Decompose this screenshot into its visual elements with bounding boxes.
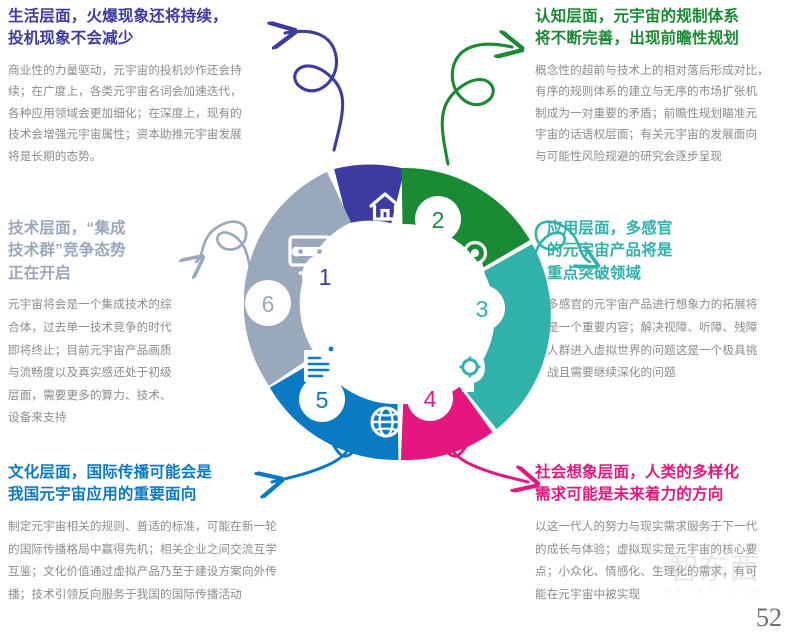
donut-number-2: 2 bbox=[432, 207, 445, 233]
donut-number-6: 6 bbox=[262, 291, 275, 317]
page-number: 52 bbox=[756, 603, 782, 633]
donut-number-4: 4 bbox=[424, 386, 437, 412]
body-app: 多感官的元宇宙产品进行想象力的拓展将 是一个重要内容；解决视障、听障、残障 人群… bbox=[547, 294, 797, 384]
body-life: 商业性的力量驱动，元宇宙的投机炒作还会持 续；在广度上，各类元宇宙名词会加速迭代… bbox=[8, 60, 280, 167]
donut-segment-3[interactable] bbox=[479, 258, 523, 408]
process-donut-chart: 1 2 3 4 5 6 bbox=[244, 158, 556, 470]
svg-text:z h i d x . c o m: z h i d x . c o m bbox=[665, 588, 763, 595]
body-cognition: 概念性的超前与技术上的相对落后形成对比， 有序的规则体系的建立与无序的市场扩张机… bbox=[535, 60, 797, 167]
heading-culture: 文化层面，国际传播可能会是 我国元宇宙应用的重要面向 bbox=[8, 462, 308, 507]
watermark-logo: 智东西 z h i d x . c o m bbox=[644, 549, 784, 597]
heading-cognition: 认知层面，元宇宙的规制体系 将不断完善，出现前瞻性规划 bbox=[535, 6, 797, 51]
heading-life: 生活层面，火爆现象还将持续， 投机现象不会减少 bbox=[8, 6, 280, 51]
heading-social: 社会想象层面，人类的多样化 需求可能是未来着力的方向 bbox=[535, 462, 797, 507]
heading-app: 应用层面，多感官 的元宇宙产品将是 重点突破领域 bbox=[547, 218, 797, 285]
arrow-life bbox=[285, 31, 343, 150]
infographic-canvas: 1 2 3 4 5 6 bbox=[0, 0, 800, 637]
text-block-tech: 技术层面，“集成 技术群”竞争态势 正在开启 元宇宙将会是一个集成技术的综 合体… bbox=[8, 218, 208, 430]
donut-number-1: 1 bbox=[319, 264, 332, 290]
text-block-cognition: 认知层面，元宇宙的规制体系 将不断完善，出现前瞻性规划 概念性的超前与技术上的相… bbox=[535, 6, 797, 167]
arrow-cognition bbox=[442, 44, 512, 164]
text-block-culture: 文化层面，国际传播可能会是 我国元宇宙应用的重要面向 制定元宇宙相关的规则、普适… bbox=[8, 462, 308, 606]
donut-number-5: 5 bbox=[316, 387, 329, 413]
donut-number-3: 3 bbox=[476, 296, 489, 322]
body-culture: 制定元宇宙相关的规则、普适的标准，可能在新一轮 的国际传播格局中赢得先机；相关企… bbox=[8, 516, 308, 606]
text-block-life: 生活层面，火爆现象还将持续， 投机现象不会减少 商业性的力量驱动，元宇宙的投机炒… bbox=[8, 6, 280, 167]
body-tech: 元宇宙将会是一个集成技术的综 合体，过去单一技术竞争的时代 即将终止；目前元宇宙… bbox=[8, 294, 208, 430]
heading-tech: 技术层面，“集成 技术群”竞争态势 正在开启 bbox=[8, 218, 208, 285]
watermark-text: 智东西 bbox=[669, 553, 759, 586]
donut-segment-1[interactable] bbox=[341, 193, 398, 197]
text-block-app: 应用层面，多感官 的元宇宙产品将是 重点突破领域 多感官的元宇宙产品进行想象力的… bbox=[547, 218, 797, 385]
